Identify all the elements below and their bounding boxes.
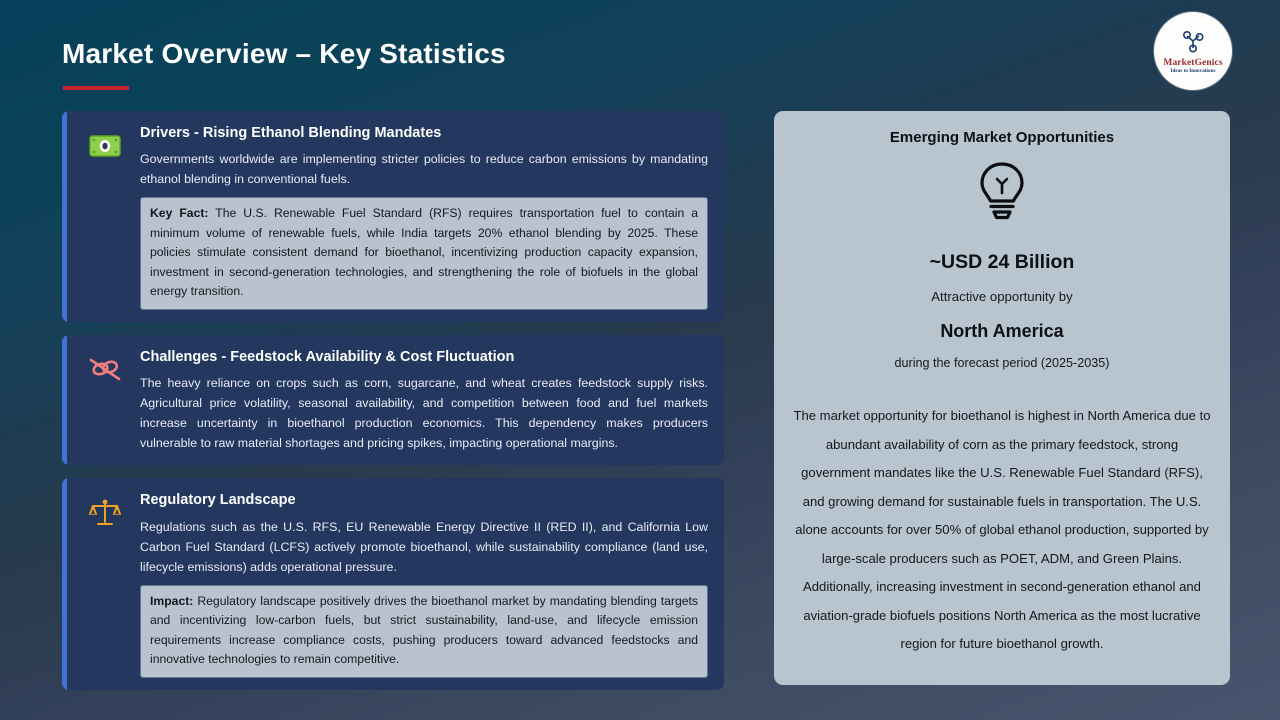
forecast-period: during the forecast period (2025-2035) — [788, 356, 1216, 370]
panel-description: The market opportunity for bioethanol is… — [788, 402, 1216, 659]
impact-label: Impact: — [150, 594, 193, 608]
page-title: Market Overview – Key Statistics — [62, 38, 506, 70]
key-fact-label: Key Fact: — [150, 206, 208, 220]
broken-link-icon — [86, 353, 124, 387]
logo-name: MarketGenics — [1163, 59, 1222, 69]
panel-title: Emerging Market Opportunities — [788, 129, 1216, 146]
card-regulatory-landscape[interactable]: Regulatory Landscape Regulations such as… — [62, 478, 724, 689]
network-nodes-icon — [1180, 29, 1206, 58]
balance-scales-icon — [86, 496, 124, 530]
leading-region: North America — [788, 321, 1216, 342]
title-underline-rule — [63, 86, 129, 90]
emerging-market-opportunities-panel: Emerging Market Opportunities ~USD 24 Bi… — [774, 111, 1230, 685]
key-statistics-card-list: Drivers - Rising Ethanol Blending Mandat… — [62, 111, 724, 703]
impact-text: Regulatory landscape positively drives t… — [150, 594, 698, 667]
card-title: Challenges - Feedstock Availability & Co… — [140, 348, 708, 366]
lightbulb-icon — [788, 160, 1216, 227]
market-value: ~USD 24 Billion — [788, 251, 1216, 274]
key-fact-box: Key Fact: The U.S. Renewable Fuel Standa… — [140, 197, 708, 310]
logo-tagline: Ideas to Innovations — [1171, 69, 1216, 75]
card-body-text: The heavy reliance on crops such as corn… — [140, 373, 708, 453]
card-body-text: Governments worldwide are implementing s… — [140, 149, 708, 189]
company-logo: MarketGenics Ideas to Innovations — [1154, 12, 1232, 90]
card-title: Regulatory Landscape — [140, 491, 708, 509]
card-drivers[interactable]: Drivers - Rising Ethanol Blending Mandat… — [62, 111, 724, 322]
banknote-icon — [86, 129, 124, 163]
card-title: Drivers - Rising Ethanol Blending Mandat… — [140, 124, 708, 142]
card-challenges[interactable]: Challenges - Feedstock Availability & Co… — [62, 335, 724, 466]
key-fact-text: The U.S. Renewable Fuel Standard (RFS) r… — [150, 206, 698, 298]
card-body-text: Regulations such as the U.S. RFS, EU Ren… — [140, 517, 708, 577]
opportunity-subtitle: Attractive opportunity by — [788, 289, 1216, 304]
impact-box: Impact: Regulatory landscape positively … — [140, 585, 708, 678]
